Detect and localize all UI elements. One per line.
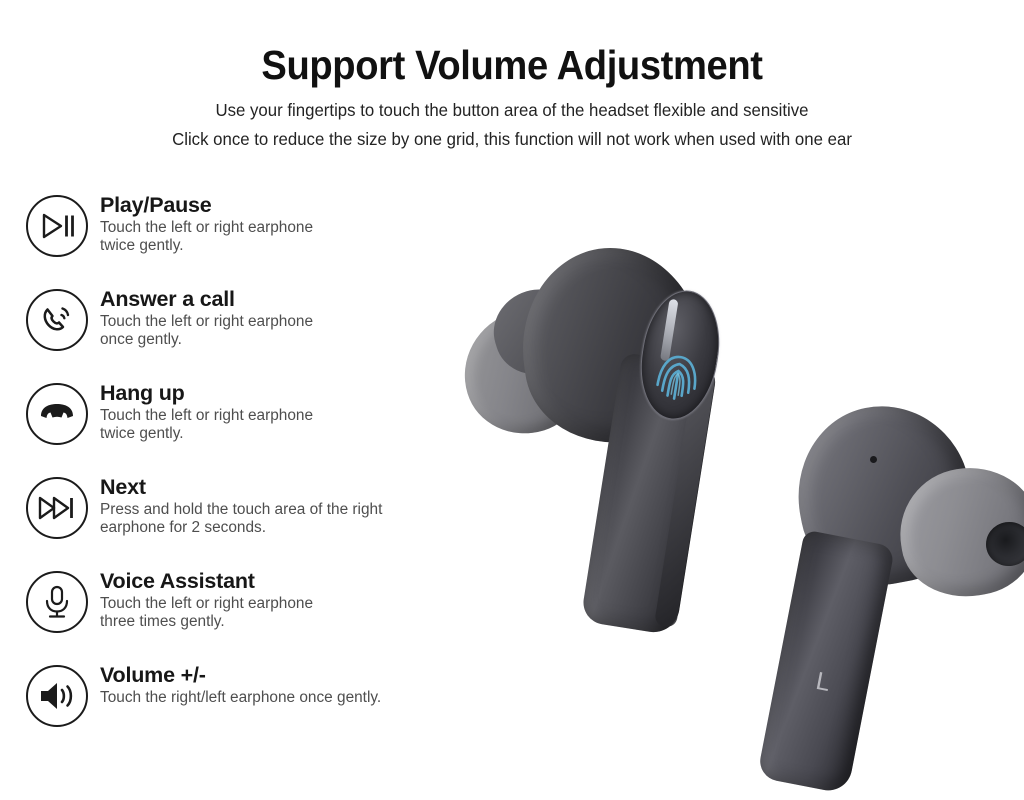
feature-title: Next: [100, 475, 464, 499]
feature-item-next: Next Press and hold the touch area of th…: [12, 475, 464, 551]
subtitle-line-2: Click once to reduce the size by one gri…: [20, 129, 1003, 149]
earbud-mic-hole: [870, 456, 877, 463]
feature-description: Touch the left or right earphone twice g…: [100, 219, 464, 255]
volume-speaker-icon: [26, 665, 88, 727]
play-pause-icon: [26, 195, 88, 257]
page-title: Support Volume Adjustment: [36, 44, 988, 87]
feature-item-hang-up: Hang up Touch the left or right earphone…: [12, 381, 464, 457]
answer-call-icon: [26, 289, 88, 351]
subtitle-line-1: Use your fingertips to touch the button …: [20, 100, 1003, 120]
feature-list: Play/Pause Touch the left or right earph…: [12, 193, 464, 739]
header: Support Volume Adjustment Use your finge…: [0, 0, 1024, 149]
feature-title: Volume +/-: [100, 663, 464, 687]
feature-description: Touch the left or right earphone three t…: [100, 595, 464, 631]
feature-description: Touch the right/left earphone once gentl…: [100, 689, 464, 707]
next-track-icon: [26, 477, 88, 539]
earbud-with-touch-panel: [450, 230, 770, 630]
feature-description: Touch the left or right earphone twice g…: [100, 407, 464, 443]
feature-title: Play/Pause: [100, 193, 464, 217]
feature-item-voice-assistant: Voice Assistant Touch the left or right …: [12, 569, 464, 645]
feature-description: Press and hold the touch area of the rig…: [100, 501, 464, 537]
feature-title: Voice Assistant: [100, 569, 464, 593]
earbud-left-channel: L: [758, 400, 1024, 800]
fingerprint-icon: [650, 340, 707, 407]
feature-title: Hang up: [100, 381, 464, 405]
feature-item-volume: Volume +/- Touch the right/left earphone…: [12, 663, 464, 739]
feature-title: Answer a call: [100, 287, 464, 311]
microphone-icon: [26, 571, 88, 633]
feature-item-play-pause: Play/Pause Touch the left or right earph…: [12, 193, 464, 269]
feature-description: Touch the left or right earphone once ge…: [100, 313, 464, 349]
feature-item-answer-call: Answer a call Touch the left or right ea…: [12, 287, 464, 363]
earbud-stem: [757, 530, 895, 795]
hang-up-icon: [26, 383, 88, 445]
product-image: L: [440, 230, 1024, 790]
